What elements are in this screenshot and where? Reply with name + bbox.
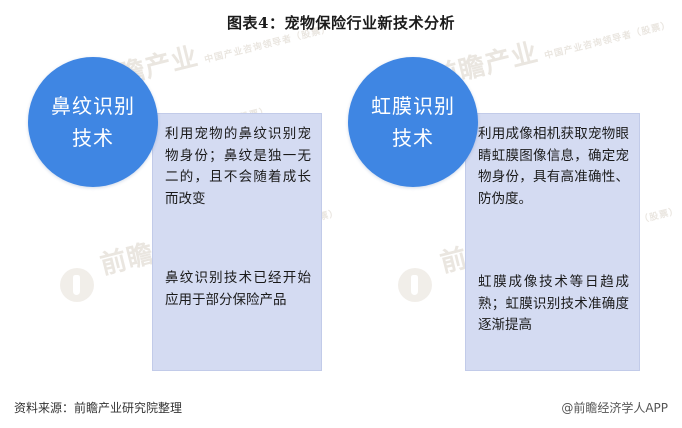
description-paragraph: 利用宠物的鼻纹识别宠物身份；鼻纹是独一无二的，且不会随着成长而改变 — [165, 124, 311, 210]
infographic-page: 前瞻产业 中国产业咨询领导者（股票） 前瞻产业 中国产业咨询领导者（股票） 前瞻… — [0, 0, 682, 428]
chart-title: 图表4：宠物保险行业新技术分析 — [0, 12, 682, 33]
tech-circle-badge: 鼻纹识别技术 — [28, 57, 158, 187]
description-panel: 利用成像相机获取宠物眼睛虹膜图像信息，确定宠物身份，具有高准确性、防伪度。 虹膜… — [465, 113, 640, 371]
description-panel-body: 利用宠物的鼻纹识别宠物身份；鼻纹是独一无二的，且不会随着成长而改变 鼻纹识别技术… — [165, 120, 311, 364]
tech-circle-badge: 虹膜识别技术 — [348, 57, 478, 187]
tech-group-iris: 利用成像相机获取宠物眼睛虹膜图像信息，确定宠物身份，具有高准确性、防伪度。 虹膜… — [320, 48, 660, 378]
description-paragraph: 鼻纹识别技术已经开始应用于部分保险产品 — [165, 268, 311, 311]
tech-group-nose-print: 利用宠物的鼻纹识别宠物身份；鼻纹是独一无二的，且不会随着成长而改变 鼻纹识别技术… — [0, 48, 330, 378]
tech-circle-label: 虹膜识别技术 — [365, 90, 461, 154]
source-note: 资料来源：前瞻产业研究院整理 — [14, 399, 182, 416]
description-panel: 利用宠物的鼻纹识别宠物身份；鼻纹是独一无二的，且不会随着成长而改变 鼻纹识别技术… — [152, 113, 322, 371]
description-paragraph: 虹膜成像技术等日趋成熟；虹膜识别技术准确度逐渐提高 — [478, 272, 629, 337]
tech-circle-label: 鼻纹识别技术 — [45, 90, 141, 154]
brand-attribution: @前瞻经济学人APP — [561, 399, 668, 416]
description-panel-body: 利用成像相机获取宠物眼睛虹膜图像信息，确定宠物身份，具有高准确性、防伪度。 虹膜… — [478, 120, 629, 364]
description-paragraph: 利用成像相机获取宠物眼睛虹膜图像信息，确定宠物身份，具有高准确性、防伪度。 — [478, 124, 629, 210]
